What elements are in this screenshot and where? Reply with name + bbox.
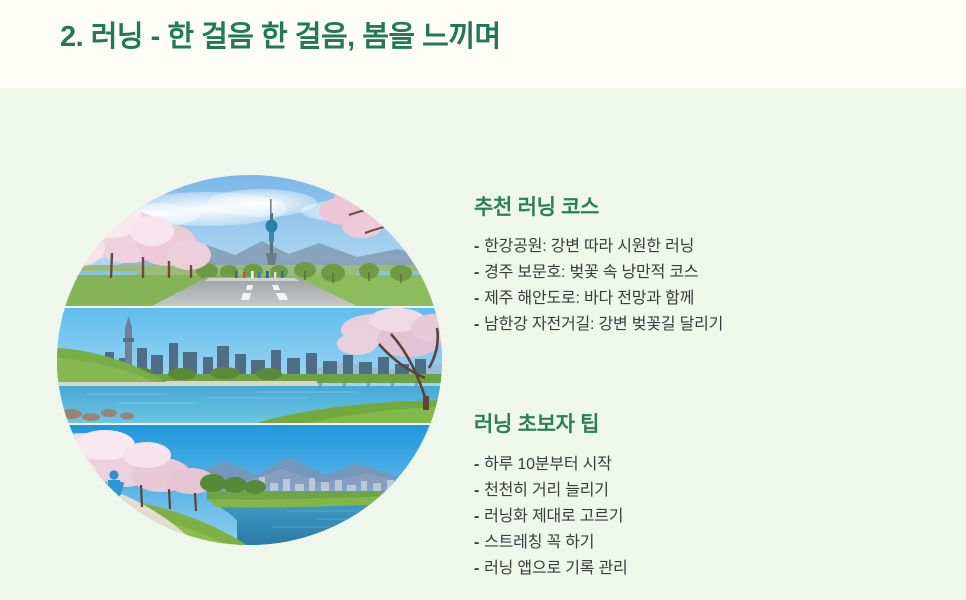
bullet-dash: -	[474, 560, 479, 577]
photo-han-river-skyline	[57, 308, 442, 423]
bullet-dash: -	[474, 264, 479, 281]
section-heading-courses: 추천 러닝 코스	[474, 191, 599, 221]
bullet-dash: -	[474, 508, 479, 525]
list-item: -하루 10분부터 시작	[474, 452, 628, 478]
list-item: -남한강 자전거길: 강변 벚꽃길 달리기	[474, 312, 723, 338]
list-item-text: 남한강 자전거길: 강변 벚꽃길 달리기	[484, 316, 723, 333]
list-item-text: 러닝 앱으로 기록 관리	[484, 560, 627, 577]
list-item-text: 하루 10분부터 시작	[484, 456, 612, 473]
courses-list: -한강공원: 강변 따라 시원한 러닝 -경주 보문호: 벚꽃 속 낭만적 코스…	[474, 234, 723, 338]
han-river-skyline-image	[57, 308, 442, 423]
bullet-dash: -	[474, 456, 479, 473]
list-item-text: 경주 보문호: 벚꽃 속 낭만적 코스	[484, 264, 698, 281]
list-item-text: 스트레칭 꼭 하기	[484, 534, 594, 551]
list-item-text: 천천히 거리 늘리기	[484, 482, 609, 499]
photo-riverside-running-path	[57, 425, 442, 545]
list-item: -제주 해안도로: 바다 전망과 함께	[474, 286, 723, 312]
cherry-blossom-road-image	[57, 175, 442, 306]
header-band: 2. 러닝 - 한 걸음 한 걸음, 봄을 느끼며	[0, 0, 966, 88]
list-item-text: 한강공원: 강변 따라 시원한 러닝	[484, 238, 694, 255]
list-item: -러닝화 제대로 고르기	[474, 504, 628, 530]
list-item: -한강공원: 강변 따라 시원한 러닝	[474, 234, 723, 260]
list-item: -러닝 앱으로 기록 관리	[474, 556, 628, 582]
page-title: 2. 러닝 - 한 걸음 한 걸음, 봄을 느끼며	[60, 13, 501, 55]
section-heading-tips: 러닝 초보자 팁	[474, 408, 599, 438]
photo-cherry-blossom-road-with-tower	[57, 175, 442, 306]
list-item: -천천히 거리 늘리기	[474, 478, 628, 504]
bullet-dash: -	[474, 238, 479, 255]
list-item-text: 러닝화 제대로 고르기	[484, 508, 623, 525]
bullet-dash: -	[474, 316, 479, 333]
list-item-text: 제주 해안도로: 바다 전망과 함께	[484, 290, 694, 307]
bullet-dash: -	[474, 290, 479, 307]
bullet-dash: -	[474, 482, 479, 499]
photo-collage	[57, 175, 442, 545]
list-item: -경주 보문호: 벚꽃 속 낭만적 코스	[474, 260, 723, 286]
bullet-dash: -	[474, 534, 479, 551]
tips-list: -하루 10분부터 시작 -천천히 거리 늘리기 -러닝화 제대로 고르기 -스…	[474, 452, 628, 582]
riverside-running-path-image	[57, 425, 442, 545]
list-item: -스트레칭 꼭 하기	[474, 530, 628, 556]
content-panel: 추천 러닝 코스 -한강공원: 강변 따라 시원한 러닝 -경주 보문호: 벚꽃…	[0, 88, 966, 600]
